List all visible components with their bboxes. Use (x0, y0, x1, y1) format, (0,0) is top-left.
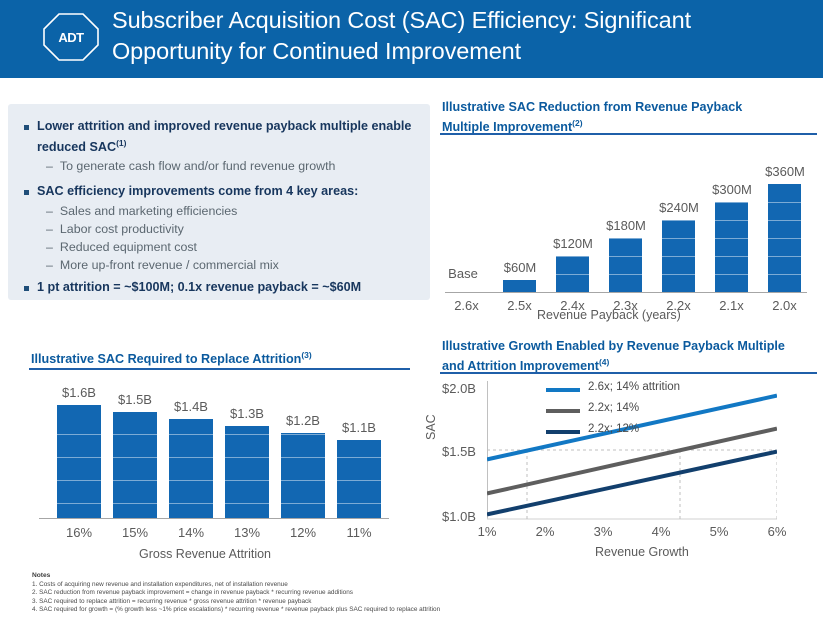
gridline (51, 480, 387, 481)
sub-bullet-text: Sales and marketing efficiencies (60, 203, 237, 220)
bar (281, 433, 325, 518)
sub-bullet-item: – Labor cost productivity (46, 221, 416, 238)
chart-title-sac-reduction: Illustrative SAC Reduction from Revenue … (442, 100, 792, 135)
footnote-ref: (1) (116, 138, 126, 148)
x-axis-line (39, 518, 389, 519)
dash-icon: – (46, 158, 53, 175)
footnote-ref: (4) (599, 357, 609, 367)
bar-label: $300M (698, 182, 766, 197)
chart-sac-reduction: Base $60M $120M $180M $240M $300M $360M … (437, 140, 819, 320)
x-tick-label: 4% (633, 524, 689, 539)
page-header: ADT Subscriber Acquisition Cost (SAC) Ef… (0, 0, 823, 73)
bullet-item: 1 pt attrition = ~$100M; 0.1x revenue pa… (24, 279, 416, 296)
svg-text:ADT: ADT (58, 30, 84, 45)
x-tick-label: 12% (273, 525, 333, 540)
note-item: 1. Costs of acquiring new revenue and in… (32, 581, 792, 590)
bar (225, 426, 269, 518)
sub-bullet-item: – More up-front revenue / commercial mix (46, 257, 416, 274)
notes-heading: Notes (32, 572, 792, 579)
bar (337, 440, 381, 518)
sub-bullet-item: – Sales and marketing efficiencies (46, 203, 416, 220)
sub-bullet-text: To generate cash flow and/or fund revenu… (60, 158, 336, 175)
x-tick-label: 2.1x (702, 298, 761, 313)
chart-title-rule (440, 372, 817, 374)
bar-label: $1.1B (326, 420, 392, 435)
gridline (497, 238, 807, 239)
dash-icon: – (46, 221, 53, 238)
legend-label: 2.2x; 12% (588, 423, 639, 435)
gridline (497, 256, 807, 257)
note-item: 2. SAC reduction from revenue payback im… (32, 589, 792, 598)
x-tick-label: 6% (749, 524, 805, 539)
x-tick-label: 15% (105, 525, 165, 540)
x-tick-label: 3% (575, 524, 631, 539)
header-accent-bar (0, 73, 823, 78)
sub-bullet-item: – Reduced equipment cost (46, 239, 416, 256)
x-axis-title: Gross Revenue Attrition (139, 547, 271, 561)
y-axis-title: SAC (424, 414, 438, 440)
bar (503, 280, 536, 292)
chart-title-rule (440, 133, 817, 135)
x-axis-title: Revenue Payback (years) (537, 308, 681, 322)
gridline (497, 202, 807, 203)
bar-label: $360M (751, 164, 819, 179)
x-tick-label: 13% (217, 525, 277, 540)
chart-title-text: Illustrative Growth Enabled by Revenue P… (442, 339, 785, 373)
chart-title-rule (29, 368, 410, 370)
gridline (51, 457, 387, 458)
y-tick-label: $2.0B (442, 381, 476, 396)
chart-title-sac-replace: Illustrative SAC Required to Replace Att… (31, 348, 411, 368)
note-item: 3. SAC required to replace attrition = r… (32, 598, 792, 607)
gridline (51, 503, 387, 504)
bullet-square-icon (24, 286, 29, 291)
bar-label: $60M (489, 260, 551, 275)
bullet-text: SAC efficiency improvements come from 4 … (37, 184, 358, 198)
chart-title-growth-enabled: Illustrative Growth Enabled by Revenue P… (442, 339, 787, 374)
legend-swatch (546, 430, 580, 434)
gridline (497, 220, 807, 221)
dash-icon: – (46, 257, 53, 274)
dash-icon: – (46, 203, 53, 220)
page-title: Subscriber Acquisition Cost (SAC) Effici… (112, 5, 812, 67)
adt-logo-icon: ADT (42, 12, 100, 62)
x-tick-label: 14% (161, 525, 221, 540)
x-tick-label: 2% (517, 524, 573, 539)
bullet-text: 1 pt attrition = ~$100M; 0.1x revenue pa… (37, 280, 361, 294)
y-tick-label: $1.0B (442, 509, 476, 524)
note-item: 4. SAC required for growth = (% growth l… (32, 606, 792, 615)
sub-bullet-text: More up-front revenue / commercial mix (60, 257, 279, 274)
gridline (51, 434, 387, 435)
x-tick-label: 11% (329, 525, 389, 540)
chart-sac-replace-attrition: $1.6B $1.5B $1.4B $1.3B $1.2B $1.1B 16% … (29, 375, 419, 550)
x-axis-line (445, 292, 807, 293)
chart-title-text: Illustrative SAC Reduction from Revenue … (442, 100, 742, 134)
sub-bullet-text: Reduced equipment cost (60, 239, 197, 256)
gridline (497, 274, 807, 275)
notes-block: Notes 1. Costs of acquiring new revenue … (32, 572, 792, 615)
legend-swatch (546, 409, 580, 413)
x-tick-label: 2.6x (437, 298, 496, 313)
chart-title-text: Illustrative SAC Required to Replace Att… (31, 352, 301, 366)
x-tick-label: 2.0x (755, 298, 814, 313)
legend-label: 2.6x; 14% attrition (588, 381, 680, 393)
bar-label-base: Base (440, 266, 486, 281)
bullet-square-icon (24, 125, 29, 130)
footnote-ref: (2) (572, 118, 582, 128)
legend-label: 2.2x; 14% (588, 402, 639, 414)
dash-icon: – (46, 239, 53, 256)
x-tick-label: 16% (49, 525, 109, 540)
bullet-square-icon (24, 190, 29, 195)
spacer (24, 176, 416, 183)
bullet-item: Lower attrition and improved revenue pay… (24, 118, 416, 155)
x-tick-label: 5% (691, 524, 747, 539)
bar (609, 238, 642, 292)
y-tick-label: $1.5B (442, 444, 476, 459)
x-axis-title: Revenue Growth (595, 545, 689, 559)
sub-bullet-item: – To generate cash flow and/or fund reve… (46, 158, 416, 175)
legend-swatch (546, 388, 580, 392)
bullet-text: Lower attrition and improved revenue pay… (37, 119, 411, 154)
sub-bullet-text: Labor cost productivity (60, 221, 184, 238)
bullet-item: SAC efficiency improvements come from 4 … (24, 183, 416, 200)
bar (715, 202, 748, 292)
x-tick-label: 1% (459, 524, 515, 539)
key-points-panel: Lower attrition and improved revenue pay… (8, 104, 430, 300)
bar (57, 405, 101, 518)
footnote-ref: (3) (301, 350, 311, 360)
